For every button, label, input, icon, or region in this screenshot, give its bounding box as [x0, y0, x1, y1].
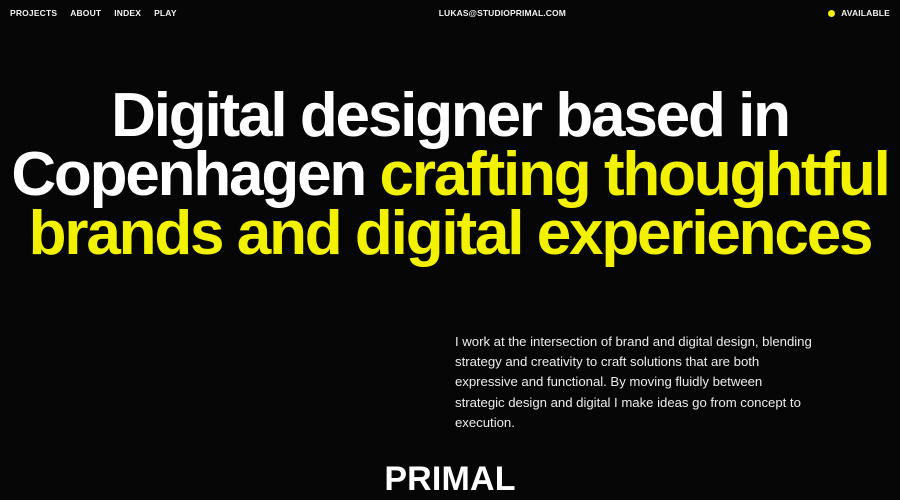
nav-item-projects[interactable]: PROJECTS — [10, 9, 57, 18]
status-dot-icon — [828, 10, 835, 17]
nav-item-play[interactable]: PLAY — [154, 9, 177, 18]
headline-line-1: Digital designer based in — [0, 86, 900, 145]
brand-wordmark: PRIMAL — [0, 462, 900, 496]
contact-email-wrapper: LUKAS@STUDIOPRIMAL.COM — [177, 9, 828, 18]
nav-item-index[interactable]: INDEX — [114, 9, 141, 18]
contact-email-link[interactable]: LUKAS@STUDIOPRIMAL.COM — [439, 9, 566, 18]
headline-line-2: Copenhagen crafting thoughtful — [0, 145, 900, 204]
hero-headline: Digital designer based in Copenhagen cra… — [0, 86, 900, 263]
hero-intro-paragraph: I work at the intersection of brand and … — [455, 332, 813, 433]
site-header: PROJECTS ABOUT INDEX PLAY LUKAS@STUDIOPR… — [0, 0, 900, 27]
headline-line-3: brands and digital experiences — [0, 204, 900, 263]
availability-status[interactable]: AVAILABLE — [828, 9, 890, 18]
nav-item-about[interactable]: ABOUT — [70, 9, 101, 18]
availability-label: AVAILABLE — [841, 9, 890, 18]
primary-nav: PROJECTS ABOUT INDEX PLAY — [10, 9, 177, 18]
